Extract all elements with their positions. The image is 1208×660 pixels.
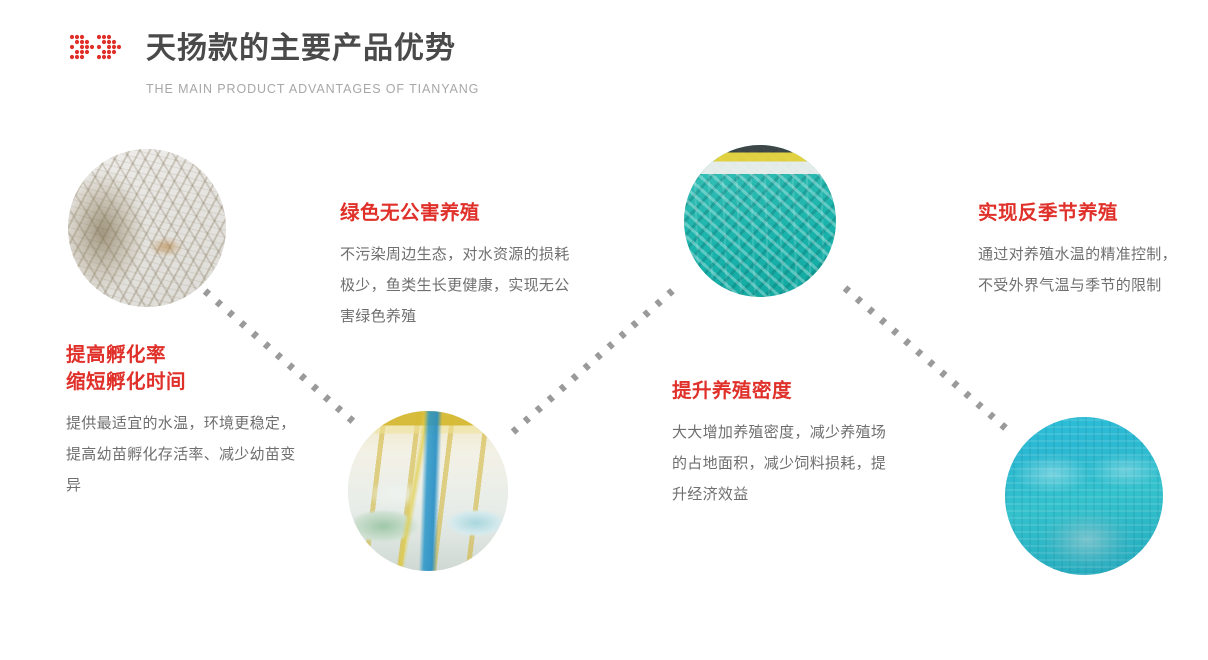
advantage-title-hatch-rate: 提高孵化率 缩短孵化时间 [66, 342, 298, 396]
advantage-body-green-farming: 不污染周边生态，对水资源的损耗极少，鱼类生长更健康，实现无公害绿色养殖 [340, 239, 572, 332]
advantage-body-density: 大大增加养殖密度，减少养殖场的占地面积，减少饲料损耗，提升经济效益 [672, 417, 894, 510]
advantage-title-line1: 提高孵化率 [66, 344, 166, 366]
photo-larvae [68, 149, 226, 307]
photo-fish-image [684, 145, 836, 297]
advantage-title-line2: 缩短孵化时间 [66, 371, 186, 393]
advantages-infographic-page: 天扬款的主要产品优势 THE MAIN PRODUCT ADVANTAGES O… [0, 0, 1208, 660]
advantage-title-green-farming: 绿色无公害养殖 [340, 200, 572, 227]
advantage-card-off-season: 实现反季节养殖 通过对养殖水温的精准控制，不受外界气温与季节的限制 [978, 200, 1190, 301]
photo-fish [684, 145, 836, 297]
photo-larvae-image [68, 149, 226, 307]
advantage-body-off-season: 通过对养殖水温的精准控制，不受外界气温与季节的限制 [978, 239, 1190, 301]
photo-tanks-image [1005, 417, 1163, 575]
photo-farm-image [348, 411, 508, 571]
photo-tanks [1005, 417, 1163, 575]
advantage-card-hatch-rate: 提高孵化率 缩短孵化时间 提供最适宜的水温，环境更稳定，提高幼苗孵化存活率、减少… [66, 342, 298, 501]
advantage-title-density: 提升养殖密度 [672, 378, 894, 405]
photo-farm [348, 411, 508, 571]
advantage-card-density: 提升养殖密度 大大增加养殖密度，减少养殖场的占地面积，减少饲料损耗，提升经济效益 [672, 378, 894, 510]
advantage-title-off-season: 实现反季节养殖 [978, 200, 1190, 227]
advantage-body-hatch-rate: 提供最适宜的水温，环境更稳定，提高幼苗孵化存活率、减少幼苗变异 [66, 408, 298, 501]
advantage-card-green-farming: 绿色无公害养殖 不污染周边生态，对水资源的损耗极少，鱼类生长更健康，实现无公害绿… [340, 200, 572, 332]
